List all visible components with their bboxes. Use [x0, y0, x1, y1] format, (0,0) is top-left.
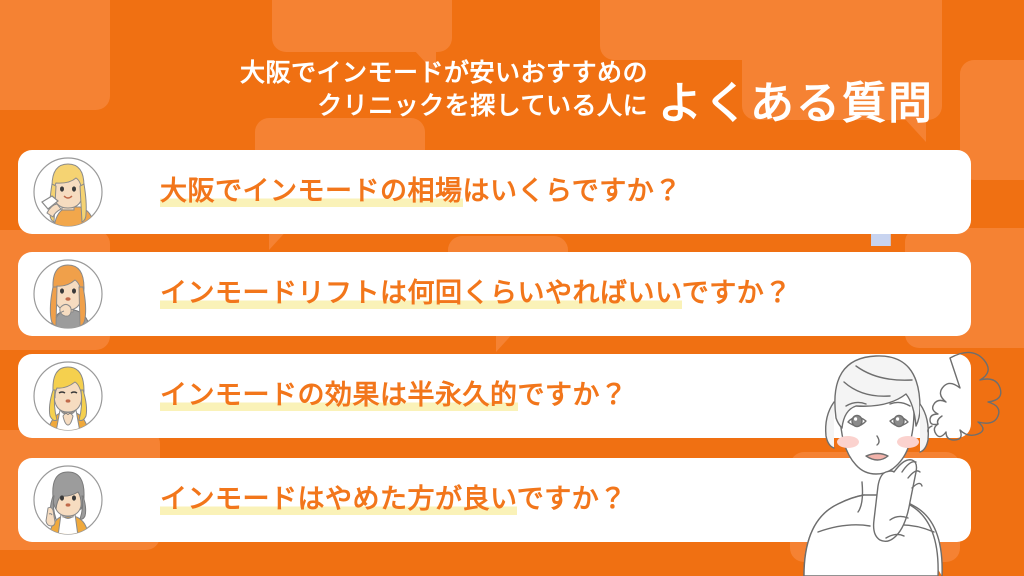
header-lead-text: 大阪でインモードが安いおすすめのクリニックを探している人に: [240, 56, 648, 128]
faq-question-text: インモードはやめた方が良いですか？: [160, 486, 627, 514]
avatar-orange-hair-woman-gray-top: [32, 258, 104, 330]
faq-question-rest: はいくらですか？: [463, 176, 682, 207]
faq-question-highlight: インモードリフトは何回くらいやればいい: [160, 278, 682, 309]
header-lead-line2: クリニックを探している人に: [317, 91, 648, 120]
avatar-blonde-woman-orange-top: [32, 156, 104, 228]
faq-question-highlight: インモードはやめた方が良い: [160, 484, 517, 515]
page-title: よくある質問: [658, 82, 934, 128]
faq-question-highlight: 大阪でインモードの相場: [160, 176, 463, 207]
faq-question-text: 大阪でインモードの相場はいくらですか？: [160, 178, 682, 206]
faq-question-highlight: インモードの効果は半永久的: [160, 380, 518, 411]
faq-question-text: インモードの効果は半永久的ですか？: [160, 382, 628, 410]
avatar-blonde-woman-yellow-jacket: [32, 360, 104, 432]
header: 大阪でインモードが安いおすすめのクリニックを探している人に よくある質問: [0, 28, 1024, 128]
faq-item[interactable]: インモードはやめた方が良いですか？: [18, 458, 971, 542]
faq-item[interactable]: インモードリフトは何回くらいやればいいですか？: [18, 252, 971, 336]
avatar-short-gray-hair-woman-orange-cardigan: [32, 464, 104, 536]
faq-item[interactable]: インモードの効果は半永久的ですか？: [18, 354, 971, 438]
faq-question-rest: ですか？: [518, 380, 628, 411]
header-lead-line1: 大阪でインモードが安いおすすめの: [240, 58, 648, 87]
faq-question-rest: ですか？: [517, 484, 627, 515]
faq-question-rest: ですか？: [682, 278, 792, 309]
faq-question-text: インモードリフトは何回くらいやればいいですか？: [160, 280, 792, 308]
faq-banner: 大阪でインモードが安いおすすめのクリニックを探している人に よくある質問 ?: [0, 0, 1024, 576]
faq-item[interactable]: 大阪でインモードの相場はいくらですか？: [18, 150, 971, 234]
